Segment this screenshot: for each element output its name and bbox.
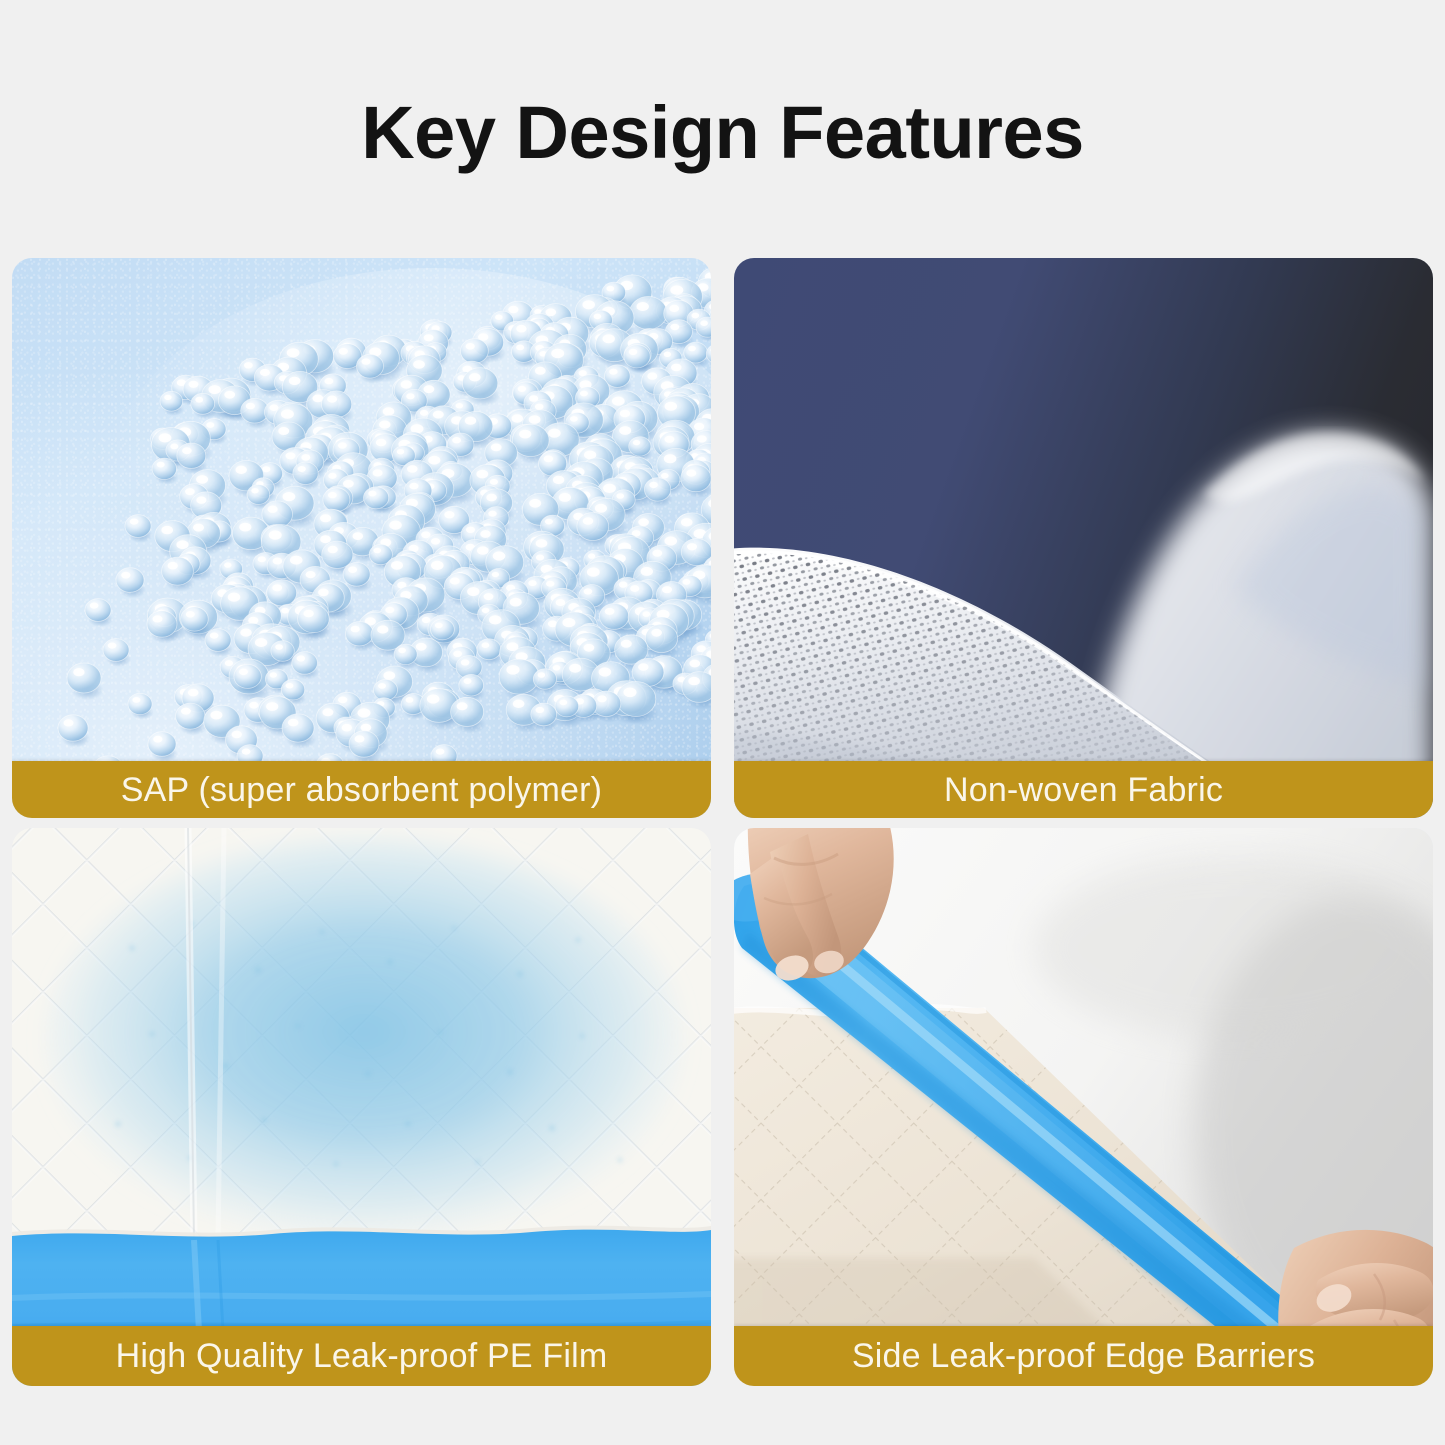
caption-label-pe-film: High Quality Leak-proof PE Film [116,1339,608,1373]
page-title: Key Design Features [0,96,1445,170]
edge-barriers-photo [734,828,1433,1386]
non-woven-photo [734,258,1433,818]
feature-card-pe-film[interactable]: High Quality Leak-proof PE Film [12,828,711,1386]
sap-beads-illustration [12,258,711,818]
caption-label-edge-barriers: Side Leak-proof Edge Barriers [852,1339,1315,1373]
caption-bar-edge-barriers: Side Leak-proof Edge Barriers [734,1326,1433,1386]
pe-film-photo [12,828,711,1386]
feature-grid: SAP (super absorbent polymer) [12,258,1433,1386]
infographic-page: Key Design Features [0,0,1445,1445]
caption-bar-non-woven: Non-woven Fabric [734,761,1433,818]
feature-card-sap[interactable]: SAP (super absorbent polymer) [12,258,711,818]
sap-photo [12,258,711,818]
feature-card-non-woven[interactable]: Non-woven Fabric [734,258,1433,818]
caption-bar-sap: SAP (super absorbent polymer) [12,761,711,818]
caption-bar-pe-film: High Quality Leak-proof PE Film [12,1326,711,1386]
pe-film-pad-illustration [12,828,711,1386]
caption-label-non-woven: Non-woven Fabric [944,773,1223,807]
non-woven-fabric-illustration [734,258,1433,818]
edge-barrier-stretch-illustration [734,828,1433,1386]
feature-card-edge-barriers[interactable]: Side Leak-proof Edge Barriers [734,828,1433,1386]
caption-label-sap: SAP (super absorbent polymer) [121,773,602,807]
